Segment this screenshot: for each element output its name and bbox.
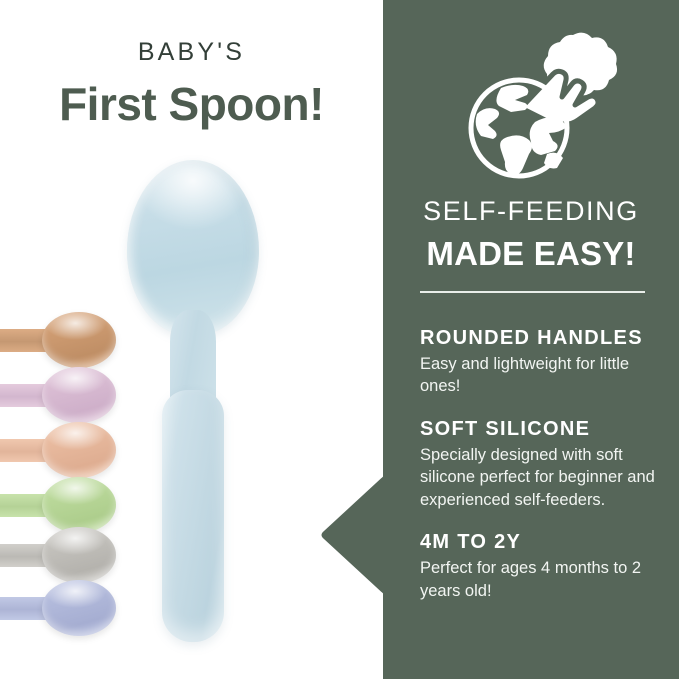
- feature-panel: SELF-FEEDING MADE EASY! ROUNDED HANDLESE…: [383, 0, 679, 679]
- panel-pointer-arrow: [318, 472, 388, 598]
- globe-sprout-icon: [461, 22, 621, 182]
- spoon-handle: minware: [162, 390, 224, 642]
- spoon-bowl: [127, 160, 259, 335]
- feature-item: ROUNDED HANDLESEasy and lightweight for …: [420, 326, 668, 398]
- swatch-bowl: [42, 422, 116, 478]
- color-swatch-grey[interactable]: [0, 527, 116, 583]
- page-title: First Spoon!: [0, 78, 383, 131]
- panel-title-secondary: MADE EASY!: [383, 237, 679, 270]
- left-panel: BABY'S First Spoon! minware: [0, 0, 383, 679]
- feature-title: SOFT SILICONE: [420, 417, 668, 441]
- color-swatch-sage-green[interactable]: [0, 477, 116, 533]
- feature-item: 4M TO 2YPerfect for ages 4 months to 2 y…: [420, 530, 668, 602]
- feature-body: Easy and lightweight for little ones!: [420, 353, 668, 398]
- color-swatch-periwinkle[interactable]: [0, 580, 116, 636]
- feature-item: SOFT SILICONESpecially designed with sof…: [420, 417, 668, 511]
- main-product-image: minware: [118, 160, 268, 650]
- color-swatch-lilac-pink[interactable]: [0, 367, 116, 423]
- color-swatch-peach[interactable]: [0, 422, 116, 478]
- feature-title: ROUNDED HANDLES: [420, 326, 668, 350]
- color-swatch-tan[interactable]: [0, 312, 116, 368]
- feature-list: ROUNDED HANDLESEasy and lightweight for …: [420, 326, 668, 621]
- swatch-bowl: [42, 477, 116, 533]
- panel-title-primary: SELF-FEEDING: [383, 198, 679, 225]
- feature-body: Specially designed with soft silicone pe…: [420, 444, 668, 511]
- swatch-bowl: [42, 527, 116, 583]
- feature-title: 4M TO 2Y: [420, 530, 668, 554]
- product-infographic: BABY'S First Spoon! minware: [0, 0, 679, 679]
- swatch-bowl: [42, 580, 116, 636]
- divider: [420, 291, 645, 293]
- headline-eyebrow: BABY'S: [0, 40, 383, 65]
- swatch-bowl: [42, 312, 116, 368]
- feature-body: Perfect for ages 4 months to 2 years old…: [420, 557, 668, 602]
- swatch-bowl: [42, 367, 116, 423]
